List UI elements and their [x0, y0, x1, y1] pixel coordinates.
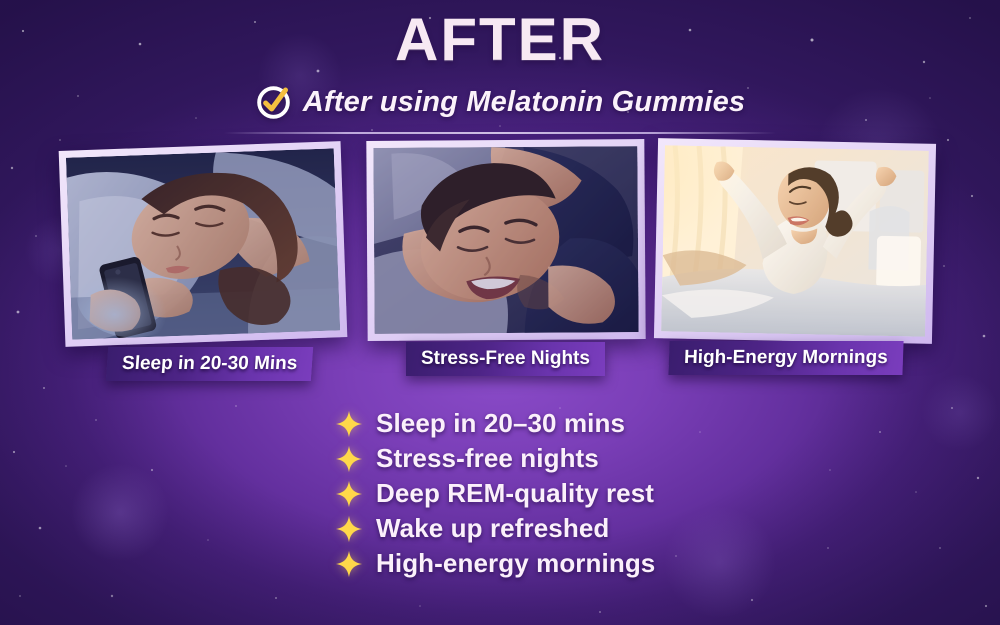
sparkle-icon	[335, 550, 363, 578]
card-caption-1: Sleep in 20-30 Mins	[106, 347, 314, 381]
benefit-card-3: High-Energy Mornings	[656, 141, 934, 341]
benefits-list: Sleep in 20–30 mins Stress-free nights D…	[0, 408, 1000, 579]
benefit-label: High-energy mornings	[376, 548, 655, 579]
benefit-label: Sleep in 20–30 mins	[376, 408, 625, 439]
photo-sleeping-woman-phone	[66, 148, 340, 339]
check-circle-icon	[255, 84, 292, 121]
sparkle-icon	[335, 445, 363, 473]
benefit-label: Deep REM-quality rest	[376, 478, 654, 509]
benefit-label: Wake up refreshed	[376, 513, 609, 544]
photo-woman-stretching-morning	[661, 145, 929, 336]
photo-frame-1	[59, 141, 348, 347]
subtitle-row: After using Melatonin Gummies	[0, 84, 1000, 121]
card-caption-3: High-Energy Mornings	[668, 341, 903, 375]
poster-canvas: AFTER After using Melatonin Gummies	[0, 0, 1000, 625]
benefit-item: Sleep in 20–30 mins	[335, 408, 665, 439]
sparkle-icon	[335, 515, 363, 543]
benefit-item: High-energy mornings	[335, 548, 665, 579]
page-title: AFTER	[0, 8, 1000, 73]
header-divider	[224, 132, 776, 134]
benefit-item: Stress-free nights	[335, 443, 665, 474]
benefit-card-1: Sleep in 20-30 Mins	[62, 146, 344, 342]
photo-frame-3	[654, 138, 936, 344]
card-caption-2: Stress-Free Nights	[406, 342, 605, 376]
photo-smiling-man-asleep	[373, 146, 638, 334]
sparkle-icon	[335, 480, 363, 508]
benefit-label: Stress-free nights	[376, 443, 599, 474]
benefit-item: Deep REM-quality rest	[335, 478, 665, 509]
photo-frame-2	[366, 139, 645, 341]
benefit-item: Wake up refreshed	[335, 513, 665, 544]
subtitle-text: After using Melatonin Gummies	[303, 86, 745, 119]
benefit-card-2: Stress-Free Nights	[367, 140, 645, 340]
sparkle-icon	[335, 410, 363, 438]
